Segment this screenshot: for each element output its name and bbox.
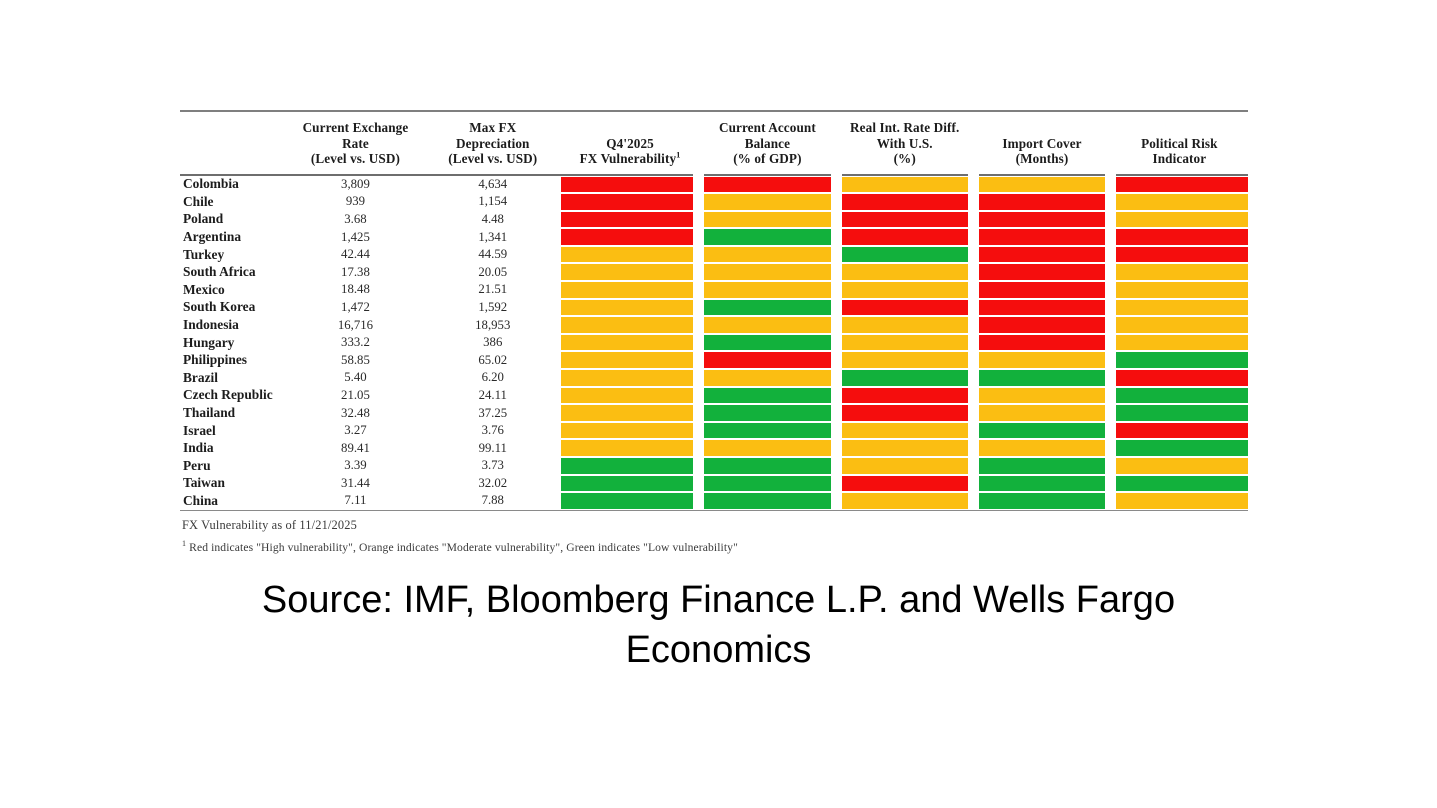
table-row: South Africa17.3820.05 — [180, 263, 1248, 281]
table-row: Israel3.273.76 — [180, 422, 1248, 440]
table-row: Turkey42.4444.59 — [180, 246, 1248, 264]
heat-cell-fx_vuln — [561, 281, 698, 299]
heat-cell-political_risk — [1111, 246, 1248, 264]
country-name-cell: Chile — [180, 193, 287, 211]
heat-swatch-green — [979, 476, 1105, 492]
country-name-cell: Turkey — [180, 246, 287, 264]
heat-swatch-orange — [704, 317, 830, 333]
heat-cell-real_rate_diff — [836, 246, 973, 264]
heat-cell-real_rate_diff — [836, 351, 973, 369]
heat-cell-import_cover — [973, 404, 1110, 422]
table-row: Argentina1,4251,341 — [180, 228, 1248, 246]
heat-swatch-orange — [1116, 335, 1248, 351]
heat-cell-current_account — [699, 175, 836, 194]
header-line-text: FX Vulnerability — [580, 151, 677, 166]
heat-swatch-green — [1116, 440, 1248, 456]
heat-cell-current_account — [699, 422, 836, 440]
heat-swatch-green — [704, 476, 830, 492]
heat-cell-import_cover — [973, 351, 1110, 369]
heat-cell-real_rate_diff — [836, 422, 973, 440]
heat-swatch-red — [842, 405, 968, 421]
value-cell-max_fx_dep: 1,592 — [424, 299, 561, 317]
heat-cell-fx_vuln — [561, 299, 698, 317]
country-name-cell: Colombia — [180, 175, 287, 194]
heat-swatch-green — [704, 229, 830, 245]
table-row: Hungary333.2386 — [180, 334, 1248, 352]
heat-swatch-orange — [1116, 317, 1248, 333]
value-cell-max_fx_dep: 37.25 — [424, 404, 561, 422]
country-name-cell: India — [180, 439, 287, 457]
heat-cell-real_rate_diff — [836, 475, 973, 493]
country-name-cell: Indonesia — [180, 316, 287, 334]
heat-cell-fx_vuln — [561, 211, 698, 229]
heat-swatch-orange — [842, 335, 968, 351]
value-cell-max_fx_dep: 4,634 — [424, 175, 561, 194]
heat-swatch-green — [704, 300, 830, 316]
heat-cell-real_rate_diff — [836, 228, 973, 246]
country-name-cell: Mexico — [180, 281, 287, 299]
heat-swatch-red — [561, 229, 693, 245]
heat-cell-current_account — [699, 492, 836, 510]
heat-cell-current_account — [699, 193, 836, 211]
heat-cell-import_cover — [973, 211, 1110, 229]
heat-cell-political_risk — [1111, 439, 1248, 457]
heat-swatch-orange — [842, 177, 968, 193]
column-header-current-exchange-rate: Current Exchange Rate (Level vs. USD) — [287, 112, 424, 175]
value-cell-fx_rate: 5.40 — [287, 369, 424, 387]
value-cell-max_fx_dep: 20.05 — [424, 263, 561, 281]
heat-cell-real_rate_diff — [836, 299, 973, 317]
heat-swatch-orange — [1116, 458, 1248, 474]
table-row: Thailand32.4837.25 — [180, 404, 1248, 422]
heat-cell-import_cover — [973, 492, 1110, 510]
table-row: Philippines58.8565.02 — [180, 351, 1248, 369]
country-name-cell: Poland — [180, 211, 287, 229]
header-line: Rate — [289, 136, 422, 152]
heat-swatch-orange — [842, 458, 968, 474]
heat-cell-real_rate_diff — [836, 457, 973, 475]
header-line: Indicator — [1113, 151, 1246, 167]
heat-cell-real_rate_diff — [836, 387, 973, 405]
value-cell-fx_rate: 3.39 — [287, 457, 424, 475]
header-line: Current Exchange — [289, 120, 422, 136]
value-cell-max_fx_dep: 18,953 — [424, 316, 561, 334]
heat-swatch-green — [561, 476, 693, 492]
heat-swatch-orange — [561, 247, 693, 263]
heat-cell-import_cover — [973, 457, 1110, 475]
heat-cell-fx_vuln — [561, 475, 698, 493]
source-line-2: Economics — [0, 625, 1437, 675]
heat-cell-import_cover — [973, 316, 1110, 334]
heat-swatch-orange — [704, 264, 830, 280]
heat-swatch-green — [979, 370, 1105, 386]
country-name-cell: Philippines — [180, 351, 287, 369]
legend-footnote-text: Red indicates "High vulnerability", Oran… — [189, 541, 738, 554]
heat-cell-real_rate_diff — [836, 175, 973, 194]
heat-cell-political_risk — [1111, 193, 1248, 211]
heat-swatch-orange — [704, 440, 830, 456]
country-name-cell: Peru — [180, 457, 287, 475]
value-cell-fx_rate: 18.48 — [287, 281, 424, 299]
heat-swatch-red — [1116, 370, 1248, 386]
column-header-country — [180, 112, 287, 175]
heat-swatch-red — [842, 476, 968, 492]
heat-cell-real_rate_diff — [836, 369, 973, 387]
heat-cell-current_account — [699, 334, 836, 352]
country-name-cell: Taiwan — [180, 475, 287, 493]
table-row: Indonesia16,71618,953 — [180, 316, 1248, 334]
heat-cell-political_risk — [1111, 263, 1248, 281]
value-cell-max_fx_dep: 65.02 — [424, 351, 561, 369]
column-header-current-account-balance: Current Account Balance (% of GDP) — [699, 112, 836, 175]
heat-swatch-orange — [1116, 282, 1248, 298]
heat-swatch-red — [561, 212, 693, 228]
heat-cell-import_cover — [973, 263, 1110, 281]
value-cell-fx_rate: 16,716 — [287, 316, 424, 334]
table-header: Current Exchange Rate (Level vs. USD) Ma… — [180, 112, 1248, 175]
heat-cell-political_risk — [1111, 492, 1248, 510]
heat-cell-import_cover — [973, 175, 1110, 194]
heat-cell-real_rate_diff — [836, 316, 973, 334]
heat-swatch-red — [979, 300, 1105, 316]
value-cell-max_fx_dep: 44.59 — [424, 246, 561, 264]
heat-swatch-red — [704, 352, 830, 368]
heat-swatch-orange — [842, 317, 968, 333]
heat-swatch-green — [704, 405, 830, 421]
table-row: Colombia3,8094,634 — [180, 175, 1248, 194]
country-name-cell: South Africa — [180, 263, 287, 281]
heat-swatch-red — [1116, 247, 1248, 263]
heat-cell-political_risk — [1111, 422, 1248, 440]
heat-cell-political_risk — [1111, 457, 1248, 475]
heat-cell-political_risk — [1111, 404, 1248, 422]
heat-cell-current_account — [699, 211, 836, 229]
heat-swatch-orange — [561, 440, 693, 456]
value-cell-fx_rate: 3.68 — [287, 211, 424, 229]
table-body: Colombia3,8094,634Chile9391,154Poland3.6… — [180, 175, 1248, 510]
heat-cell-current_account — [699, 351, 836, 369]
table-row: Chile9391,154 — [180, 193, 1248, 211]
value-cell-fx_rate: 32.48 — [287, 404, 424, 422]
heat-cell-current_account — [699, 369, 836, 387]
column-header-political-risk-indicator: Political Risk Indicator — [1111, 112, 1248, 175]
heat-swatch-green — [979, 493, 1105, 509]
country-name-cell: Argentina — [180, 228, 287, 246]
heat-swatch-orange — [1116, 264, 1248, 280]
value-cell-max_fx_dep: 32.02 — [424, 475, 561, 493]
heat-swatch-red — [1116, 177, 1248, 193]
value-cell-max_fx_dep: 3.76 — [424, 422, 561, 440]
heat-swatch-orange — [704, 194, 830, 210]
heat-swatch-orange — [842, 282, 968, 298]
fx-vulnerability-table: Current Exchange Rate (Level vs. USD) Ma… — [180, 112, 1248, 510]
heat-cell-fx_vuln — [561, 316, 698, 334]
heat-swatch-green — [1116, 388, 1248, 404]
heat-swatch-orange — [1116, 194, 1248, 210]
heat-cell-political_risk — [1111, 228, 1248, 246]
heat-swatch-orange — [561, 388, 693, 404]
heat-swatch-green — [704, 493, 830, 509]
value-cell-max_fx_dep: 3.73 — [424, 457, 561, 475]
heat-cell-political_risk — [1111, 175, 1248, 194]
heat-swatch-green — [704, 458, 830, 474]
heat-cell-real_rate_diff — [836, 211, 973, 229]
table-row: Mexico18.4821.51 — [180, 281, 1248, 299]
value-cell-fx_rate: 58.85 — [287, 351, 424, 369]
heat-cell-fx_vuln — [561, 351, 698, 369]
heat-swatch-orange — [842, 352, 968, 368]
value-cell-max_fx_dep: 21.51 — [424, 281, 561, 299]
heat-cell-political_risk — [1111, 351, 1248, 369]
heat-swatch-orange — [561, 264, 693, 280]
value-cell-max_fx_dep: 6.20 — [424, 369, 561, 387]
heat-swatch-orange — [561, 405, 693, 421]
heat-cell-import_cover — [973, 193, 1110, 211]
table-row: Poland3.684.48 — [180, 211, 1248, 229]
heat-swatch-green — [704, 423, 830, 439]
header-line: Political Risk — [1113, 136, 1246, 152]
heat-swatch-orange — [842, 493, 968, 509]
heat-swatch-red — [979, 264, 1105, 280]
header-line: Max FX — [426, 120, 559, 136]
heat-cell-fx_vuln — [561, 369, 698, 387]
heat-cell-import_cover — [973, 439, 1110, 457]
header-line: FX Vulnerability1 — [563, 151, 696, 167]
heat-cell-real_rate_diff — [836, 193, 973, 211]
value-cell-max_fx_dep: 7.88 — [424, 492, 561, 510]
heat-swatch-orange — [561, 300, 693, 316]
value-cell-max_fx_dep: 99.11 — [424, 439, 561, 457]
heat-swatch-orange — [979, 405, 1105, 421]
header-line: (Level vs. USD) — [426, 151, 559, 167]
value-cell-fx_rate: 939 — [287, 193, 424, 211]
heat-cell-real_rate_diff — [836, 492, 973, 510]
value-cell-max_fx_dep: 4.48 — [424, 211, 561, 229]
heat-cell-fx_vuln — [561, 228, 698, 246]
country-name-cell: South Korea — [180, 299, 287, 317]
heat-cell-current_account — [699, 281, 836, 299]
value-cell-fx_rate: 21.05 — [287, 387, 424, 405]
value-cell-max_fx_dep: 1,341 — [424, 228, 561, 246]
value-cell-fx_rate: 42.44 — [287, 246, 424, 264]
heat-swatch-green — [1116, 352, 1248, 368]
heat-cell-import_cover — [973, 246, 1110, 264]
value-cell-fx_rate: 1,425 — [287, 228, 424, 246]
heat-swatch-orange — [979, 177, 1105, 193]
heat-swatch-orange — [561, 282, 693, 298]
heat-cell-current_account — [699, 246, 836, 264]
value-cell-fx_rate: 17.38 — [287, 263, 424, 281]
heat-swatch-red — [842, 388, 968, 404]
heat-swatch-red — [561, 194, 693, 210]
country-name-cell: Brazil — [180, 369, 287, 387]
heat-swatch-orange — [704, 212, 830, 228]
country-name-cell: China — [180, 492, 287, 510]
value-cell-fx_rate: 3.27 — [287, 422, 424, 440]
footnote-marker: 1 — [676, 150, 680, 160]
column-header-real-int-rate-diff: Real Int. Rate Diff. With U.S. (%) — [836, 112, 973, 175]
header-line: Balance — [701, 136, 834, 152]
heat-swatch-red — [979, 247, 1105, 263]
source-line-1: Source: IMF, Bloomberg Finance L.P. and … — [0, 575, 1437, 625]
heat-cell-political_risk — [1111, 475, 1248, 493]
heat-cell-political_risk — [1111, 334, 1248, 352]
header-line: (Months) — [975, 151, 1108, 167]
header-line: (Level vs. USD) — [289, 151, 422, 167]
heat-swatch-red — [979, 335, 1105, 351]
heat-cell-import_cover — [973, 422, 1110, 440]
country-name-cell: Czech Republic — [180, 387, 287, 405]
heat-swatch-green — [842, 247, 968, 263]
heat-cell-real_rate_diff — [836, 281, 973, 299]
as-of-note: FX Vulnerability as of 11/21/2025 — [180, 515, 1248, 535]
heat-cell-real_rate_diff — [836, 439, 973, 457]
table-row: China7.117.88 — [180, 492, 1248, 510]
header-row: Current Exchange Rate (Level vs. USD) Ma… — [180, 112, 1248, 175]
heat-swatch-orange — [561, 335, 693, 351]
heat-cell-political_risk — [1111, 299, 1248, 317]
value-cell-fx_rate: 89.41 — [287, 439, 424, 457]
value-cell-fx_rate: 333.2 — [287, 334, 424, 352]
heat-cell-current_account — [699, 228, 836, 246]
heat-cell-fx_vuln — [561, 387, 698, 405]
table-row: Taiwan31.4432.02 — [180, 475, 1248, 493]
heat-swatch-red — [704, 177, 830, 193]
heat-cell-import_cover — [973, 334, 1110, 352]
heat-cell-current_account — [699, 316, 836, 334]
heat-swatch-green — [704, 335, 830, 351]
heat-cell-fx_vuln — [561, 404, 698, 422]
heat-cell-fx_vuln — [561, 246, 698, 264]
heat-swatch-red — [842, 300, 968, 316]
country-name-cell: Hungary — [180, 334, 287, 352]
heat-swatch-green — [979, 423, 1105, 439]
heat-swatch-orange — [561, 352, 693, 368]
heat-swatch-orange — [561, 370, 693, 386]
header-line: Import Cover — [975, 136, 1108, 152]
header-line: Current Account — [701, 120, 834, 136]
heat-cell-fx_vuln — [561, 175, 698, 194]
heat-cell-current_account — [699, 439, 836, 457]
heat-cell-political_risk — [1111, 387, 1248, 405]
heat-swatch-red — [1116, 229, 1248, 245]
table-row: Brazil5.406.20 — [180, 369, 1248, 387]
heat-swatch-green — [561, 458, 693, 474]
heat-cell-political_risk — [1111, 316, 1248, 334]
heat-cell-current_account — [699, 404, 836, 422]
heat-swatch-red — [842, 194, 968, 210]
heat-swatch-red — [1116, 423, 1248, 439]
fx-vulnerability-figure: Current Exchange Rate (Level vs. USD) Ma… — [180, 110, 1248, 554]
heat-swatch-red — [979, 194, 1105, 210]
heat-cell-current_account — [699, 299, 836, 317]
heat-swatch-orange — [561, 423, 693, 439]
heat-cell-current_account — [699, 457, 836, 475]
heat-swatch-red — [979, 212, 1105, 228]
heat-swatch-green — [1116, 476, 1248, 492]
heat-cell-import_cover — [973, 281, 1110, 299]
value-cell-max_fx_dep: 24.11 — [424, 387, 561, 405]
heat-cell-fx_vuln — [561, 439, 698, 457]
heat-cell-fx_vuln — [561, 422, 698, 440]
source-caption: Source: IMF, Bloomberg Finance L.P. and … — [0, 575, 1437, 675]
heat-cell-import_cover — [973, 299, 1110, 317]
heat-swatch-green — [561, 493, 693, 509]
heat-swatch-red — [979, 317, 1105, 333]
value-cell-fx_rate: 3,809 — [287, 175, 424, 194]
heat-cell-real_rate_diff — [836, 334, 973, 352]
heat-cell-fx_vuln — [561, 492, 698, 510]
heat-swatch-orange — [842, 423, 968, 439]
heat-swatch-red — [842, 229, 968, 245]
heat-swatch-orange — [561, 317, 693, 333]
table-notes: FX Vulnerability as of 11/21/2025 1 Red … — [180, 511, 1248, 554]
heat-swatch-green — [842, 370, 968, 386]
heat-cell-current_account — [699, 475, 836, 493]
heat-cell-import_cover — [973, 387, 1110, 405]
heat-cell-import_cover — [973, 475, 1110, 493]
value-cell-fx_rate: 1,472 — [287, 299, 424, 317]
heat-swatch-orange — [1116, 493, 1248, 509]
table-row: India89.4199.11 — [180, 439, 1248, 457]
value-cell-fx_rate: 7.11 — [287, 492, 424, 510]
heat-cell-political_risk — [1111, 281, 1248, 299]
header-line: Real Int. Rate Diff. — [838, 120, 971, 136]
table-row: Peru3.393.73 — [180, 457, 1248, 475]
heat-swatch-orange — [842, 440, 968, 456]
heat-cell-real_rate_diff — [836, 263, 973, 281]
heat-swatch-green — [1116, 405, 1248, 421]
heat-swatch-red — [842, 212, 968, 228]
header-line: Depreciation — [426, 136, 559, 152]
heat-swatch-orange — [1116, 212, 1248, 228]
header-line: (%) — [838, 151, 971, 167]
value-cell-max_fx_dep: 386 — [424, 334, 561, 352]
heat-cell-fx_vuln — [561, 193, 698, 211]
heat-cell-real_rate_diff — [836, 404, 973, 422]
heat-swatch-red — [561, 177, 693, 193]
heat-cell-political_risk — [1111, 369, 1248, 387]
header-line: (% of GDP) — [701, 151, 834, 167]
table-row: Czech Republic21.0524.11 — [180, 387, 1248, 405]
heat-swatch-orange — [979, 388, 1105, 404]
country-name-cell: Israel — [180, 422, 287, 440]
heat-swatch-orange — [842, 264, 968, 280]
heat-cell-import_cover — [973, 228, 1110, 246]
column-header-import-cover: Import Cover (Months) — [973, 112, 1110, 175]
heat-swatch-green — [704, 388, 830, 404]
heat-cell-fx_vuln — [561, 263, 698, 281]
country-name-cell: Thailand — [180, 404, 287, 422]
value-cell-max_fx_dep: 1,154 — [424, 193, 561, 211]
heat-swatch-orange — [979, 352, 1105, 368]
heat-cell-import_cover — [973, 369, 1110, 387]
heat-cell-fx_vuln — [561, 334, 698, 352]
heat-cell-current_account — [699, 387, 836, 405]
heat-cell-current_account — [699, 263, 836, 281]
heat-swatch-orange — [979, 440, 1105, 456]
heat-cell-political_risk — [1111, 211, 1248, 229]
heat-swatch-orange — [1116, 300, 1248, 316]
legend-footnote: 1 Red indicates "High vulnerability", Or… — [180, 535, 1248, 554]
value-cell-fx_rate: 31.44 — [287, 475, 424, 493]
heat-swatch-red — [979, 282, 1105, 298]
heat-swatch-green — [979, 458, 1105, 474]
heat-swatch-orange — [704, 247, 830, 263]
footnote-marker-text: 1 — [182, 539, 186, 548]
heat-swatch-orange — [704, 282, 830, 298]
table-row: South Korea1,4721,592 — [180, 299, 1248, 317]
